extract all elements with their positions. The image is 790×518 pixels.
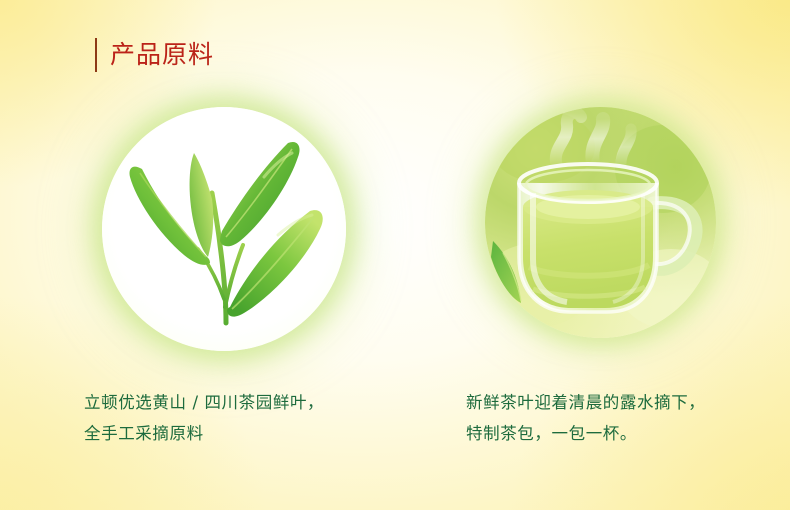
caption-left-line-1: 立顿优选黄山 / 四川茶园鲜叶， [84, 387, 324, 418]
heading-accent-bar [95, 38, 97, 72]
bottom-white-strip [0, 510, 790, 518]
section-heading: 产品原料 [95, 38, 214, 72]
tea-leaves-illustration [102, 107, 346, 351]
section-title: 产品原料 [110, 38, 214, 72]
caption-right-line-1: 新鲜茶叶迎着清晨的露水摘下， [466, 387, 705, 418]
caption-right: 新鲜茶叶迎着清晨的露水摘下， 特制茶包，一包一杯。 [466, 387, 705, 449]
green-tea-cup-photo [485, 107, 716, 338]
tea-leaves-photo [102, 107, 346, 351]
caption-left-line-2: 全手工采摘原料 [84, 418, 324, 449]
caption-left: 立顿优选黄山 / 四川茶园鲜叶， 全手工采摘原料 [84, 387, 324, 449]
caption-right-line-2: 特制茶包，一包一杯。 [466, 418, 705, 449]
product-ingredients-section: 产品原料 [0, 0, 790, 518]
glass-mug-illustration [485, 107, 716, 338]
